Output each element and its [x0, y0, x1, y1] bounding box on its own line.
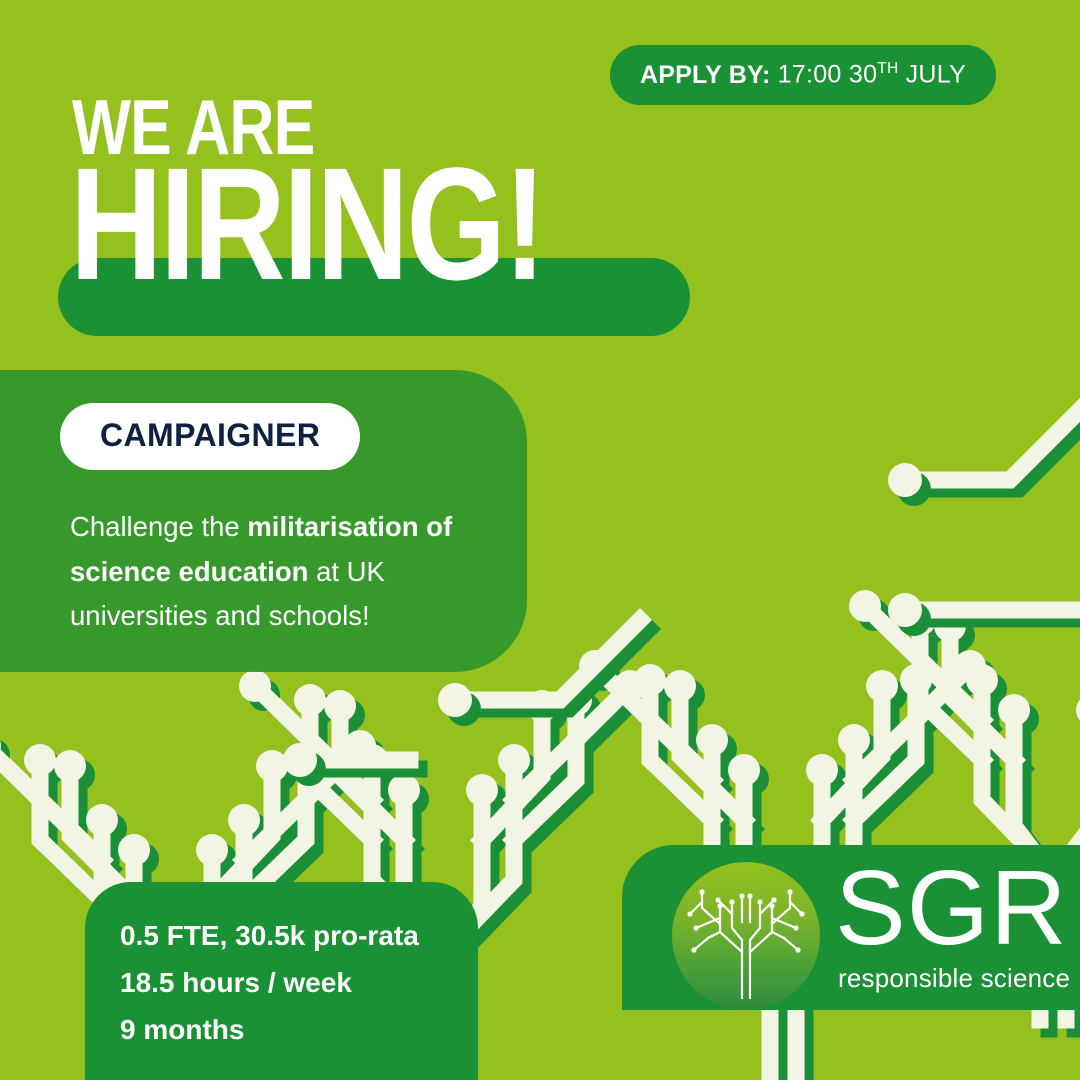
- logo-tagline: responsible science: [838, 963, 1070, 994]
- terms-item-duration: 9 months: [120, 1006, 480, 1053]
- terms-list: 0.5 FTE, 30.5k pro-rata 18.5 hours / wee…: [120, 912, 480, 1053]
- headline-line-2: HIRING!: [70, 158, 544, 289]
- logo-wordmark: SGR: [835, 855, 1068, 961]
- terms-item-salary: 0.5 FTE, 30.5k pro-rata: [120, 912, 480, 959]
- apply-by-badge: APPLY BY: 17:00 30TH JULY: [610, 45, 996, 105]
- role-description: Challenge the militarisation of science …: [70, 505, 490, 639]
- apply-by-ordinal: TH: [877, 60, 898, 77]
- apply-by-label: APPLY BY:: [640, 61, 771, 90]
- role-title-badge: CAMPAIGNER: [60, 403, 360, 470]
- role-description-part1: Challenge the: [70, 511, 247, 542]
- hiring-poster: APPLY BY: 17:00 30TH JULY WE ARE HIRING!…: [0, 0, 1080, 1080]
- apply-by-month: JULY: [906, 61, 966, 89]
- terms-item-hours: 18.5 hours / week: [120, 959, 480, 1006]
- circuit-tree-icon: [672, 862, 820, 1010]
- role-title: CAMPAIGNER: [100, 417, 320, 453]
- apply-by-deadline: 17:00 30TH JULY: [778, 60, 967, 89]
- apply-by-time: 17:00 30: [778, 61, 878, 89]
